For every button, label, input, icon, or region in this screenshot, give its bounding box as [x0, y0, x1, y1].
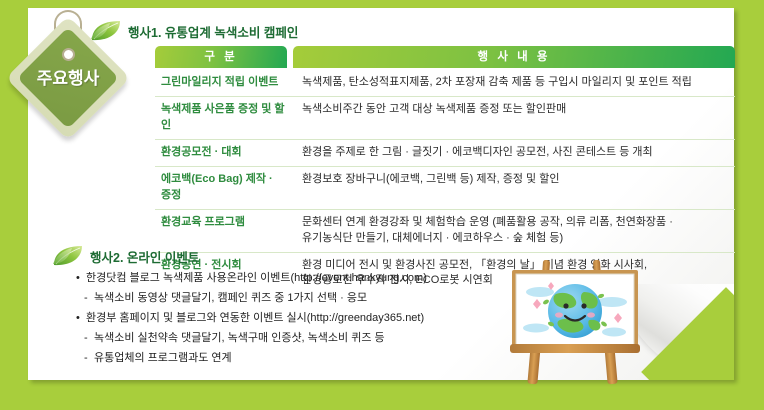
- tag-hole-icon: [62, 48, 75, 61]
- table-row: 환경교육 프로그램문화센터 연계 환경강좌 및 체험학습 운영 (폐품활용 공작…: [155, 210, 735, 253]
- leaf-icon: [52, 245, 86, 267]
- table-cell-detail: 녹색제품, 탄소성적표지제품, 2차 포장재 감축 제품 등 구입시 마일리지 …: [293, 70, 735, 96]
- list-item: -녹색소비 동영상 댓글달기, 캠페인 퀴즈 중 1가지 선택 · 응모: [76, 288, 476, 308]
- table-header-row: 구 분 행 사 내 용: [155, 46, 735, 68]
- section1-title: 행사1. 유통업계 녹색소비 캠페인: [128, 22, 298, 41]
- table-row: 그린마일리지 적립 이벤트녹색제품, 탄소성적표지제품, 2차 포장재 감축 제…: [155, 70, 735, 97]
- table-cell-detail: 환경보호 장바구니(에코백, 그린백 등) 제작, 증정 및 할인: [293, 167, 735, 209]
- table-cell-detail-line: 녹색소비주간 동안 고객 대상 녹색제품 증정 또는 할인판매: [302, 102, 733, 118]
- bullet-mark-icon: -: [84, 348, 94, 368]
- easel-with-earth-painting-icon: [488, 258, 668, 386]
- table-row: 녹색제품 사은품 증정 및 할인녹색소비주간 동안 고객 대상 녹색제품 증정 …: [155, 97, 735, 140]
- section2-title: 행사2. 온라인 이벤트: [90, 247, 199, 266]
- list-item-label: 유통업체의 프로그램과도 연계: [94, 352, 232, 364]
- table-row: 환경공모전 · 대회환경을 주제로 한 그림 · 글짓기 · 에코백디자인 공모…: [155, 140, 735, 167]
- table-cell-category: 에코백(Eco Bag) 제작 · 증정: [155, 167, 287, 209]
- table-cell-category: 환경공모전 · 대회: [155, 140, 287, 166]
- bullet-mark-icon: -: [84, 288, 94, 308]
- infographic-root: 주요행사 행사1: [0, 0, 764, 410]
- table-cell-detail-line: 유기농식단 만들기, 대체에너지 · 에코하우스 · 숲 체험 등): [302, 231, 733, 247]
- section1-heading: 행사1. 유통업계 녹색소비 캠페인: [90, 20, 298, 42]
- table-cell-category: 그린마일리지 적립 이벤트: [155, 70, 287, 96]
- tag-label: 주요행사: [24, 64, 112, 89]
- table-cell-detail-line: 환경을 주제로 한 그림 · 글짓기 · 에코백디자인 공모전, 사진 콘테스트…: [302, 145, 733, 161]
- list-item: •한경닷컴 블로그 녹색제품 사용온라인 이벤트(http://event.ha…: [76, 268, 476, 288]
- leaf-icon: [90, 20, 124, 42]
- table-cell-detail: 문화센터 연계 환경강좌 및 체험학습 운영 (폐품활용 공작, 의류 리폼, …: [293, 210, 735, 252]
- table-cell-detail: 녹색소비주간 동안 고객 대상 녹색제품 증정 또는 할인판매: [293, 97, 735, 139]
- list-item: -녹색소비 실천약속 댓글달기, 녹색구매 인증샷, 녹색소비 퀴즈 등: [76, 328, 476, 348]
- table-cell-category: 녹색제품 사은품 증정 및 할인: [155, 97, 287, 139]
- list-item: -유통업체의 프로그램과도 연계: [76, 348, 476, 368]
- list-item-label: 환경부 홈페이지 및 블로그와 연동한 이벤트 실시(http://greend…: [86, 312, 424, 324]
- bullet-mark-icon: •: [76, 268, 86, 288]
- table-cell-detail-line: 환경보호 장바구니(에코백, 그린백 등) 제작, 증정 및 할인: [302, 172, 733, 188]
- bullet-mark-icon: •: [76, 308, 86, 328]
- table-cell-detail-line: 문화센터 연계 환경강좌 및 체험학습 운영 (폐품활용 공작, 의류 리폼, …: [302, 215, 733, 231]
- online-event-list: •한경닷컴 블로그 녹색제품 사용온라인 이벤트(http://event.ha…: [76, 268, 476, 368]
- list-item-label: 녹색소비 실천약속 댓글달기, 녹색구매 인증샷, 녹색소비 퀴즈 등: [94, 332, 385, 344]
- list-item-label: 녹색소비 동영상 댓글달기, 캠페인 퀴즈 중 1가지 선택 · 응모: [94, 292, 367, 304]
- table-header-detail: 행 사 내 용: [293, 46, 735, 68]
- table-cell-detail: 환경을 주제로 한 그림 · 글짓기 · 에코백디자인 공모전, 사진 콘테스트…: [293, 140, 735, 166]
- table-row: 에코백(Eco Bag) 제작 · 증정환경보호 장바구니(에코백, 그린백 등…: [155, 167, 735, 210]
- bullet-mark-icon: -: [84, 328, 94, 348]
- section2-heading: 행사2. 온라인 이벤트: [52, 245, 199, 267]
- list-item: •환경부 홈페이지 및 블로그와 연동한 이벤트 실시(http://green…: [76, 308, 476, 328]
- table-header-category: 구 분: [155, 46, 287, 68]
- table-cell-detail-line: 녹색제품, 탄소성적표지제품, 2차 포장재 감축 제품 등 구입시 마일리지 …: [302, 75, 733, 91]
- list-item-label: 한경닷컴 블로그 녹색제품 사용온라인 이벤트(http://event.han…: [86, 272, 427, 284]
